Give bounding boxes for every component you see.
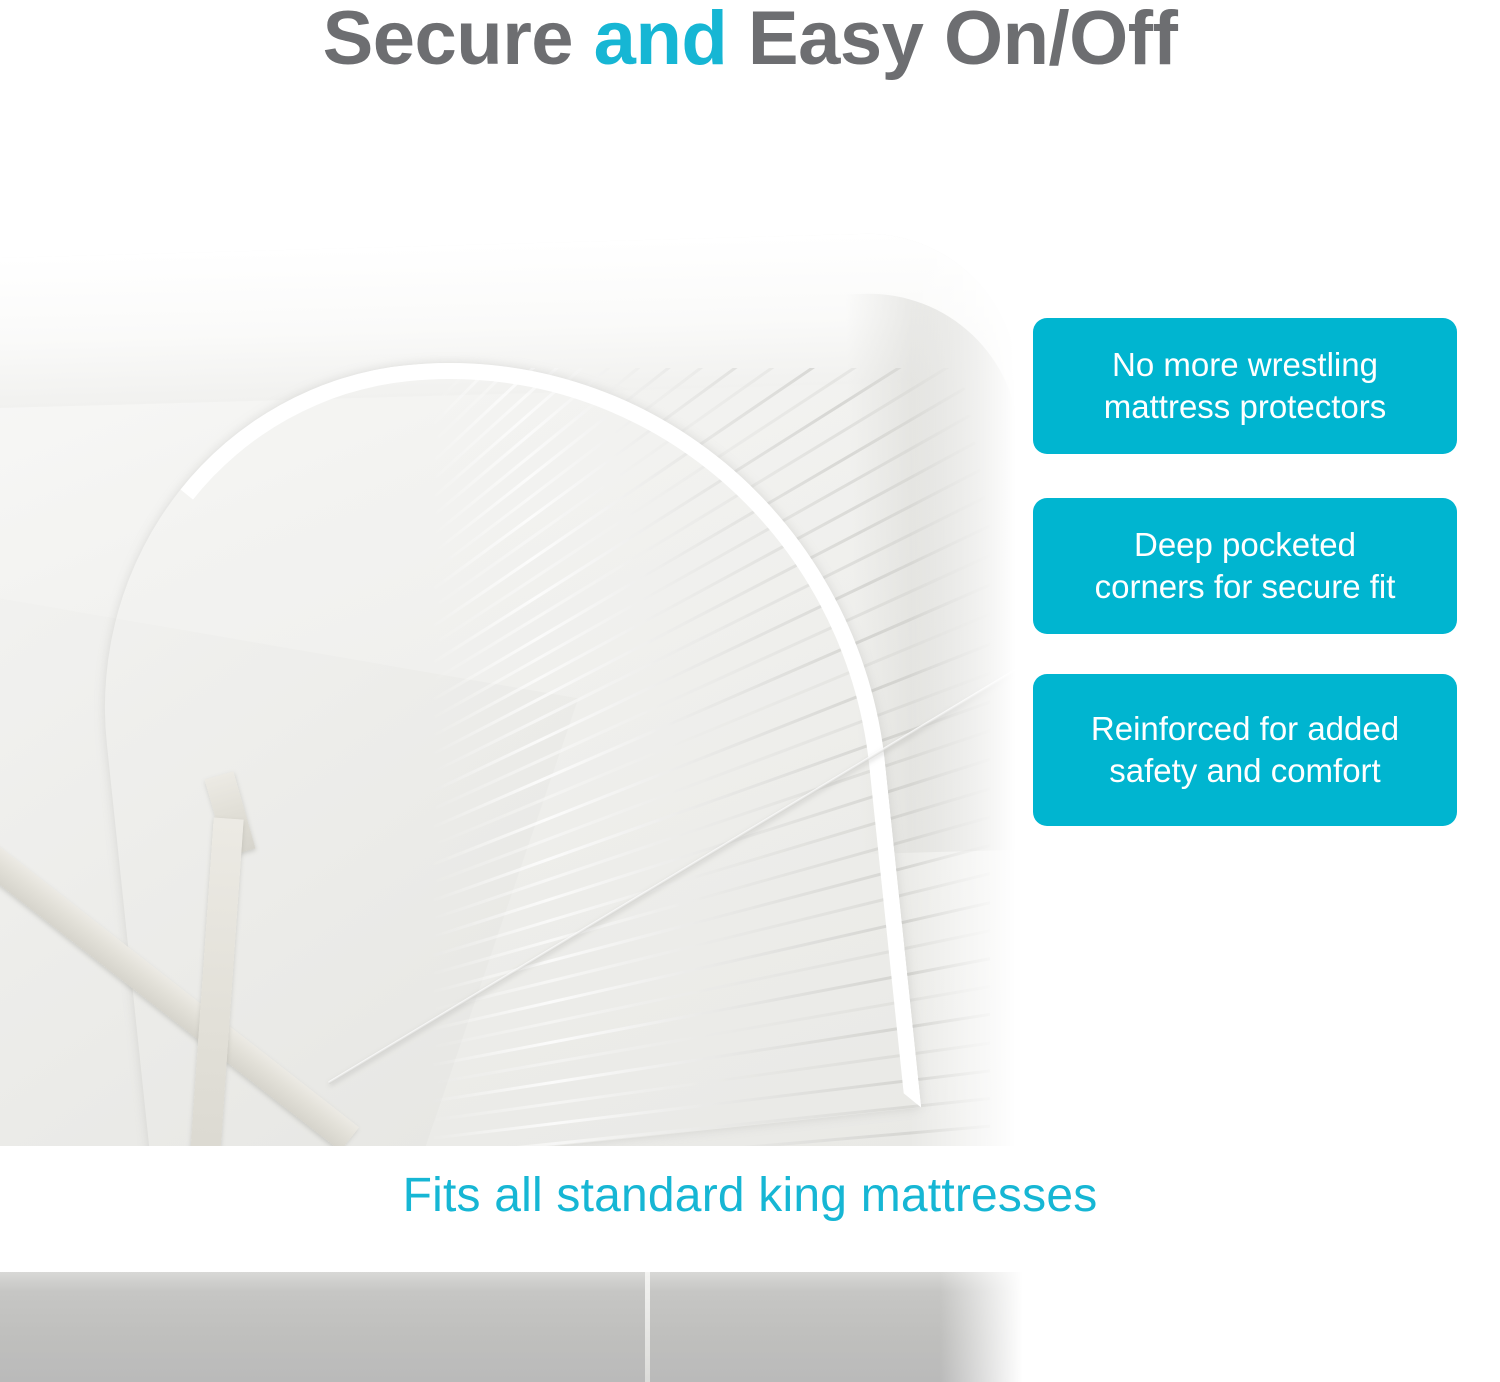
feature-callout-3-line2: safety and comfort	[1109, 752, 1380, 789]
page-title-part1: Secure	[323, 0, 594, 81]
bottom-strip-seam	[645, 1272, 650, 1382]
feature-callout-2: Deep pocketed corners for secure fit	[1033, 498, 1457, 634]
bottom-mattress-strip	[0, 1272, 1030, 1382]
page-title-part2: Easy On/Off	[727, 0, 1177, 81]
feature-callout-3: Reinforced for added safety and comfort	[1033, 674, 1457, 826]
feature-callout-2-line1: Deep pocketed	[1134, 526, 1356, 563]
feature-callout-list: No more wrestling mattress protectors De…	[1033, 318, 1457, 826]
feature-callout-3-line1: Reinforced for added	[1091, 710, 1399, 747]
product-photo	[0, 118, 1030, 1146]
feature-callout-1-text: No more wrestling mattress protectors	[1104, 344, 1386, 428]
feature-callout-1-line2: mattress protectors	[1104, 388, 1386, 425]
footer-caption: Fits all standard king mattresses	[0, 1168, 1500, 1223]
feature-callout-3-text: Reinforced for added safety and comfort	[1091, 708, 1399, 792]
feature-callout-1: No more wrestling mattress protectors	[1033, 318, 1457, 454]
product-infographic: Secure and Easy On/Off No more wrestling…	[0, 0, 1500, 1382]
feature-callout-2-line2: corners for secure fit	[1095, 568, 1396, 605]
page-title: Secure and Easy On/Off	[0, 0, 1500, 81]
page-title-accent-word: and	[594, 0, 728, 81]
feature-callout-1-line1: No more wrestling	[1112, 346, 1378, 383]
feature-callout-2-text: Deep pocketed corners for secure fit	[1095, 524, 1396, 608]
